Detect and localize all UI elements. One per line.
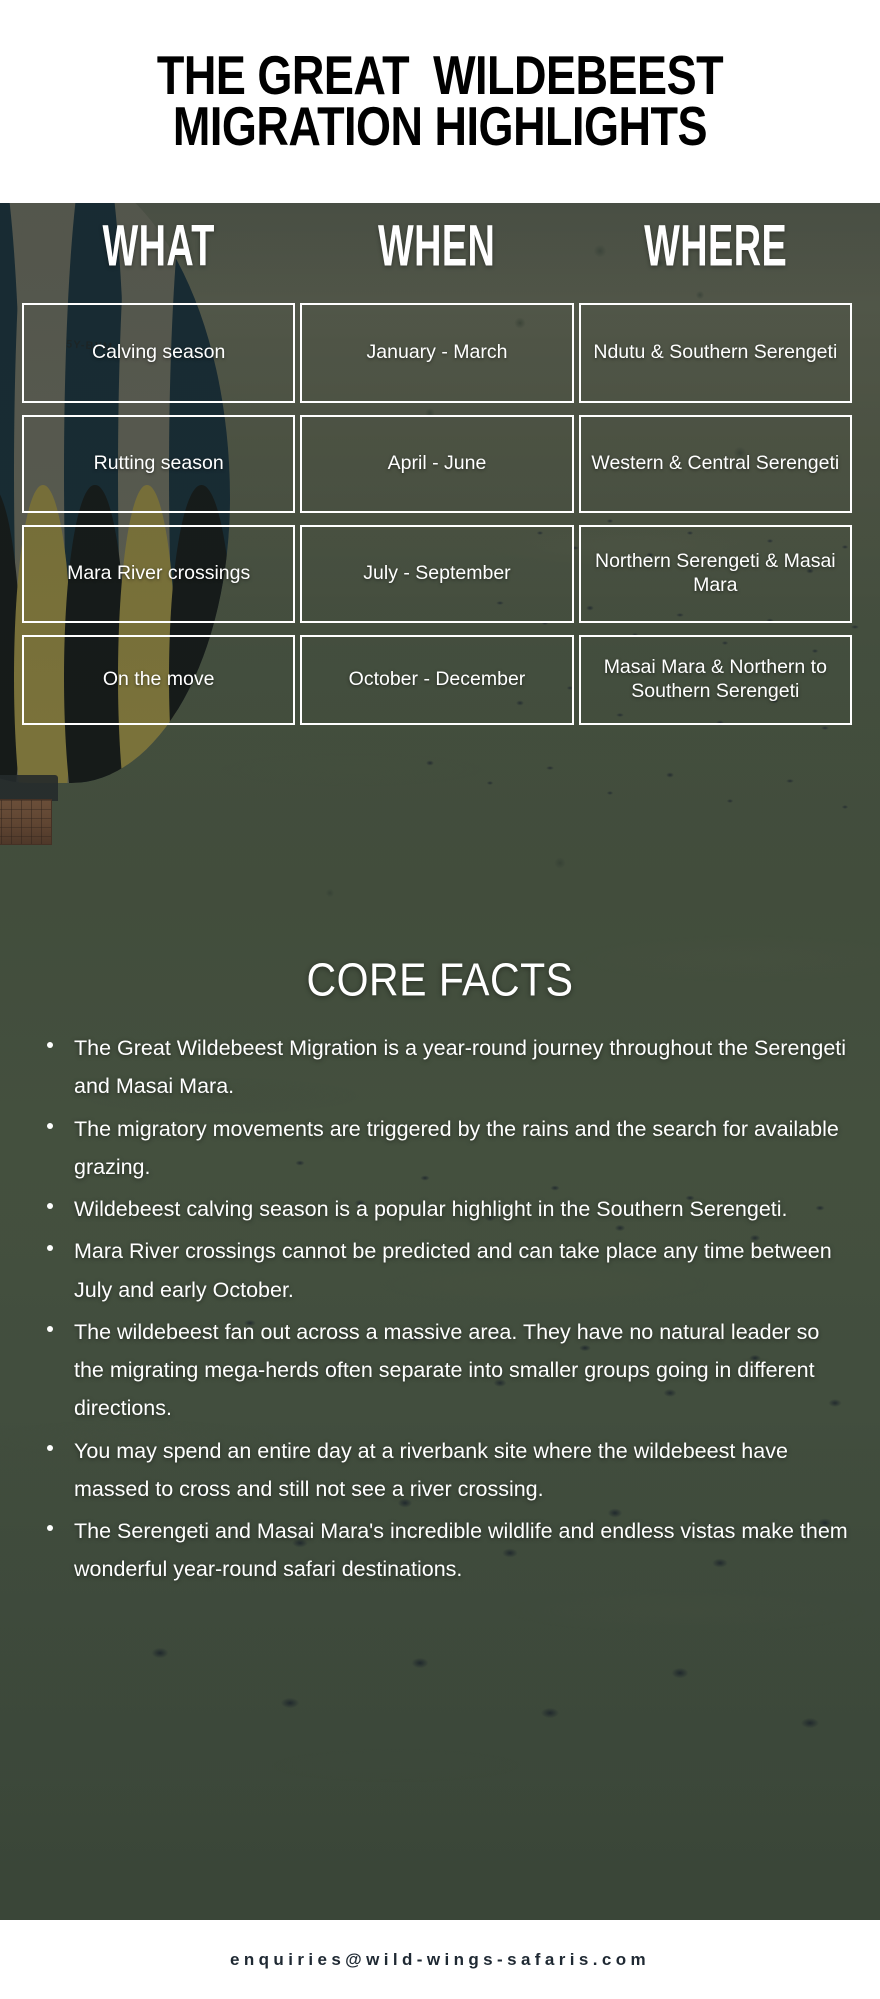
cell-where-1: Ndutu & Southern Serengeti	[579, 303, 852, 403]
table-row: Mara River crossings July - September No…	[22, 525, 852, 623]
cell-when-1: January - March	[300, 303, 573, 403]
fact-text: The Great Wildebeest Migration is a year…	[74, 1036, 846, 1098]
fact-text: You may spend an entire day at a riverba…	[74, 1439, 788, 1501]
table-row: On the move October - December Masai Mar…	[22, 635, 852, 725]
table-header-row: WHAT WHEN WHERE	[22, 203, 852, 269]
cell-what-3: Mara River crossings	[22, 525, 295, 623]
bullet-icon	[47, 1326, 53, 1332]
bullet-icon	[47, 1245, 53, 1251]
table-row: Rutting season April - June Western & Ce…	[22, 415, 852, 513]
fact-text: The Serengeti and Masai Mara's incredibl…	[74, 1519, 848, 1581]
list-item: Mara River crossings cannot be predicted…	[0, 1232, 880, 1309]
cell-what-2: Rutting season	[22, 415, 295, 513]
cell-where-4: Masai Mara & Northern to Southern Sereng…	[579, 635, 852, 725]
list-item: You may spend an entire day at a riverba…	[0, 1432, 880, 1509]
bullet-icon	[47, 1123, 53, 1129]
cell-where-2: Western & Central Serengeti	[579, 415, 852, 513]
page-title-line-2: MIGRATION HIGHLIGHTS	[173, 96, 707, 158]
bullet-icon	[47, 1042, 53, 1048]
cell-what-4: On the move	[22, 635, 295, 725]
fact-text: Wildebeest calving season is a popular h…	[74, 1197, 788, 1221]
core-facts-heading: CORE FACTS	[0, 958, 880, 1004]
footer-bar: enquiries@wild-wings-safaris.com	[0, 1920, 880, 1999]
column-header-what: WHAT	[41, 218, 276, 276]
migration-table: WHAT WHEN WHERE Calving season January -…	[22, 203, 852, 725]
cell-when-3: July - September	[300, 525, 573, 623]
cell-when-2: April - June	[300, 415, 573, 513]
core-facts-section: CORE FACTS The Great Wildebeest Migratio…	[0, 960, 880, 1593]
list-item: The wildebeest fan out across a massive …	[0, 1313, 880, 1428]
fact-text: The wildebeest fan out across a massive …	[74, 1320, 819, 1421]
infographic-page: 5Y-BYM THE GREAT WILDEBEEST MIGRATION HI…	[0, 0, 880, 1999]
contact-email-link[interactable]: enquiries@wild-wings-safaris.com	[230, 1950, 650, 1970]
bullet-icon	[47, 1203, 53, 1209]
fact-text: Mara River crossings cannot be predicted…	[74, 1239, 832, 1301]
fact-text: The migratory movements are triggered by…	[74, 1117, 839, 1179]
list-item: The Great Wildebeest Migration is a year…	[0, 1029, 880, 1106]
core-facts-list: The Great Wildebeest Migration is a year…	[0, 1029, 880, 1589]
list-item: The migratory movements are triggered by…	[0, 1110, 880, 1187]
table-row: Calving season January - March Ndutu & S…	[22, 303, 852, 403]
cell-where-3: Northern Serengeti & Masai Mara	[579, 525, 852, 623]
column-header-where: WHERE	[598, 218, 833, 276]
list-item: Wildebeest calving season is a popular h…	[0, 1190, 880, 1228]
table-body: Calving season January - March Ndutu & S…	[22, 303, 852, 725]
bullet-icon	[47, 1445, 53, 1451]
bullet-icon	[47, 1525, 53, 1531]
cell-when-4: October - December	[300, 635, 573, 725]
list-item: The Serengeti and Masai Mara's incredibl…	[0, 1512, 880, 1589]
column-header-when: WHEN	[319, 218, 554, 276]
cell-what-1: Calving season	[22, 303, 295, 403]
title-band: THE GREAT WILDEBEEST MIGRATION HIGHLIGHT…	[0, 0, 880, 203]
